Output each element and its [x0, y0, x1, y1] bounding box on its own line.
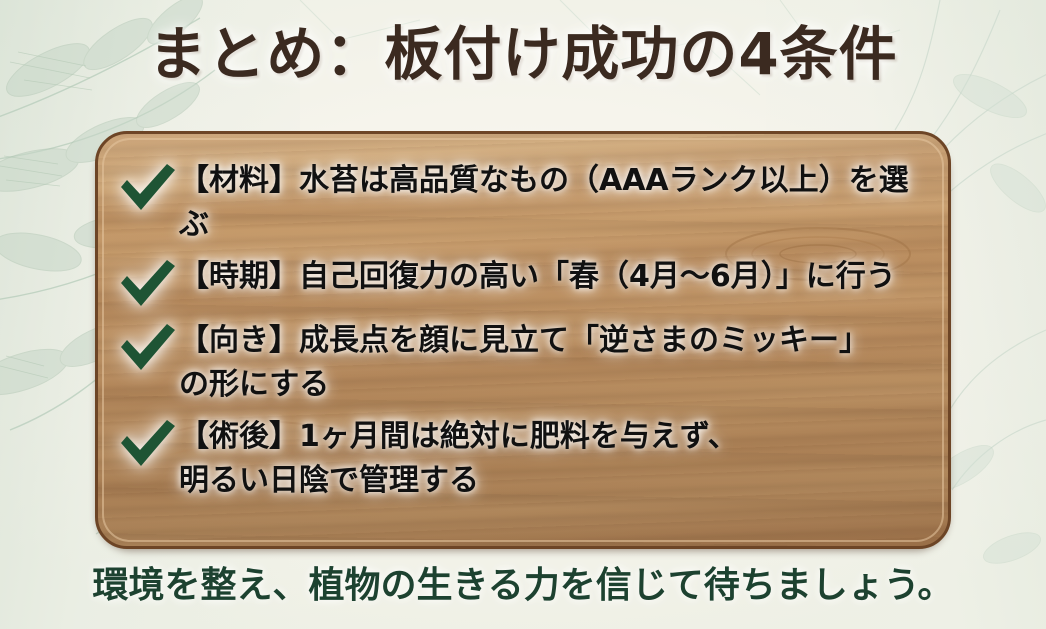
list-item-line1: 【時期】自己回復力の高い「春（4月〜6月）」に行う	[179, 259, 896, 294]
page-title: まとめ：板付け成功の4条件	[0, 18, 1046, 90]
list-item: 【材料】水苔は高品質なもの（AAAランク以上）を選ぶ	[117, 159, 925, 247]
check-icon	[117, 259, 179, 311]
list-item: 【向き】成長点を顔に見立て「逆さまのミッキー」 の形にする	[117, 319, 925, 407]
list-item-line1: 【向き】成長点を顔に見立て「逆さまのミッキー」	[179, 323, 869, 358]
list-item-text: 【材料】水苔は高品質なもの（AAAランク以上）を選ぶ	[179, 159, 925, 247]
list-item: 【時期】自己回復力の高い「春（4月〜6月）」に行う	[117, 255, 925, 311]
list-item-line1: 【材料】水苔は高品質なもの（AAAランク以上）を選ぶ	[179, 163, 909, 242]
check-icon	[117, 419, 179, 471]
list-item-line2: 明るい日陰で管理する	[179, 459, 925, 503]
check-icon	[117, 323, 179, 375]
check-icon	[117, 163, 179, 215]
slide-root: まとめ：板付け成功の4条件	[0, 0, 1046, 629]
conditions-list: 【材料】水苔は高品質なもの（AAAランク以上）を選ぶ 【時期】自己回復力の高い「…	[95, 131, 951, 549]
list-item-line2: の形にする	[179, 363, 925, 407]
list-item-text: 【術後】1ヶ月間は絶対に肥料を与えず、 明るい日陰で管理する	[179, 415, 925, 503]
list-item-line1: 【術後】1ヶ月間は絶対に肥料を与えず、	[179, 419, 738, 454]
list-item-text: 【時期】自己回復力の高い「春（4月〜6月）」に行う	[179, 255, 925, 299]
footer-caption: 環境を整え、植物の生きる力を信じて待ちましょう。	[0, 560, 1046, 610]
wooden-board: 【材料】水苔は高品質なもの（AAAランク以上）を選ぶ 【時期】自己回復力の高い「…	[95, 131, 951, 549]
list-item: 【術後】1ヶ月間は絶対に肥料を与えず、 明るい日陰で管理する	[117, 415, 925, 503]
list-item-text: 【向き】成長点を顔に見立て「逆さまのミッキー」 の形にする	[179, 319, 925, 407]
